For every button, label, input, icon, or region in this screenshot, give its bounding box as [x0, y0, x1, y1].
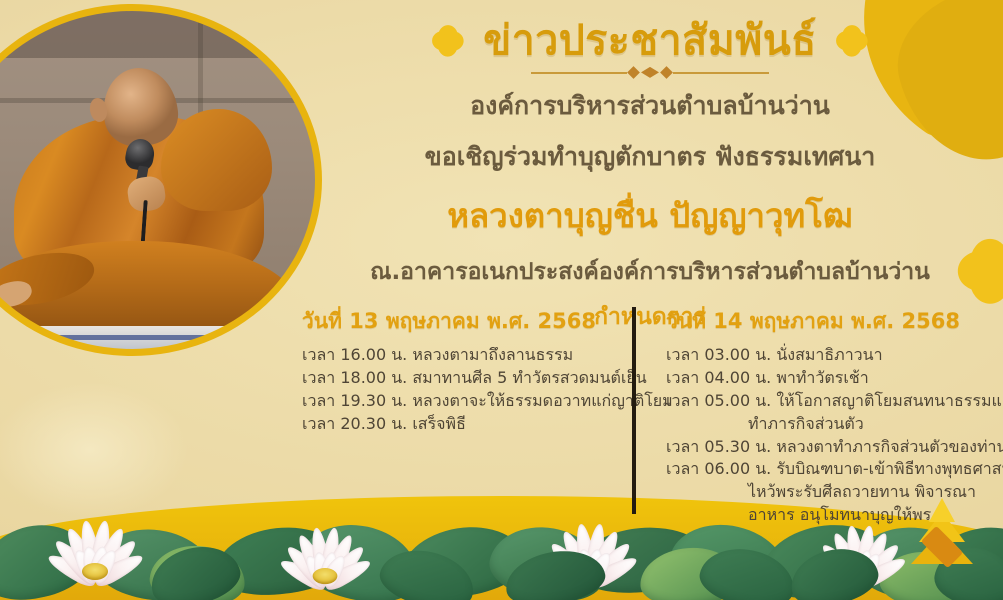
list-item: เวลา 19.30 น. หลวงตาจะให้ธรรมดอวาทแก่ญาต…	[280, 390, 635, 413]
list-item-continuation: อาหาร อนุโมทนาบุญให้พร	[652, 504, 1000, 527]
monk-portrait	[0, 4, 322, 356]
list-item: เวลา 04.00 น. พาทำวัตรเช้า	[652, 367, 1000, 390]
day1-heading: วันที่ 13 พฤษภาคม พ.ศ. 2568	[280, 305, 635, 338]
day2-heading: วันที่ 14 พฤษภาคม พ.ศ. 2568	[652, 305, 1000, 338]
day2-list: เวลา 03.00 น. นั่งสมาธิภาวนา เวลา 04.00 …	[652, 344, 1000, 527]
invitation-line: ขอเชิญร่วมทำบุญตักบาตร ฟังธรรมเทศนา	[300, 137, 1000, 177]
list-item: เวลา 06.00 น. รับบิณฑบาต-เข้าพิธีทางพุทธ…	[652, 458, 1000, 481]
list-item: เวลา 03.00 น. นั่งสมาธิภาวนา	[652, 344, 1000, 367]
lotus-seed-pod	[82, 563, 108, 580]
list-item: เวลา 20.30 น. เสร็จพิธี	[280, 413, 635, 436]
organization-line: องค์การบริหารส่วนตำบลบ้านว่าน	[300, 86, 1000, 126]
quatrefoil-right-icon	[835, 24, 869, 58]
quatrefoil-left-icon	[431, 24, 465, 58]
poster-canvas: ข่าวประชาสัมพันธ์ องค์การบริหารส่วนตำบลบ…	[0, 0, 1003, 600]
list-item-continuation: ไหว้พระรับศีลถวายทาน พิจารณา	[652, 481, 1000, 504]
title-divider-ornament	[525, 66, 775, 80]
column-divider	[632, 307, 636, 514]
schedule-column-day1: วันที่ 13 พฤษภาคม พ.ศ. 2568 เวลา 16.00 น…	[280, 305, 635, 436]
title-row: ข่าวประชาสัมพันธ์	[300, 18, 1000, 64]
page-title: ข่าวประชาสัมพันธ์	[483, 18, 817, 64]
schedule-section: วันที่ 13 พฤษภาคม พ.ศ. 2568 เวลา 16.00 น…	[280, 305, 1000, 520]
list-item: เวลา 16.00 น. หลวงตามาถึงลานธรรม	[280, 344, 635, 367]
list-item: เวลา 05.00 น. ให้โอกาสญาติโยมสนทนาธรรมแล…	[652, 390, 1000, 413]
list-item: เวลา 05.30 น. หลวงตาทำภารกิจส่วนตัวของท่…	[652, 436, 1000, 459]
day1-list: เวลา 16.00 น. หลวงตามาถึงลานธรรม เวลา 18…	[280, 344, 635, 436]
monk-name-line: หลวงตาบุญชื่น ปัญญาวุทโฒ	[300, 189, 1000, 242]
header-block: ข่าวประชาสัมพันธ์ องค์การบริหารส่วนตำบลบ…	[300, 18, 1000, 335]
list-item: เวลา 18.00 น. สมาทานศีล 5 ทำวัตรสวดมนต์เ…	[280, 367, 635, 390]
schedule-column-day2: วันที่ 14 พฤษภาคม พ.ศ. 2568 เวลา 03.00 น…	[652, 305, 1000, 527]
lotus-seed-pod	[313, 568, 338, 584]
list-item-continuation: ทำภารกิจส่วนตัว	[652, 413, 1000, 436]
venue-line: ณ.อาคารอเนกประสงค์องค์การบริหารส่วนตำบลบ…	[300, 254, 1000, 290]
